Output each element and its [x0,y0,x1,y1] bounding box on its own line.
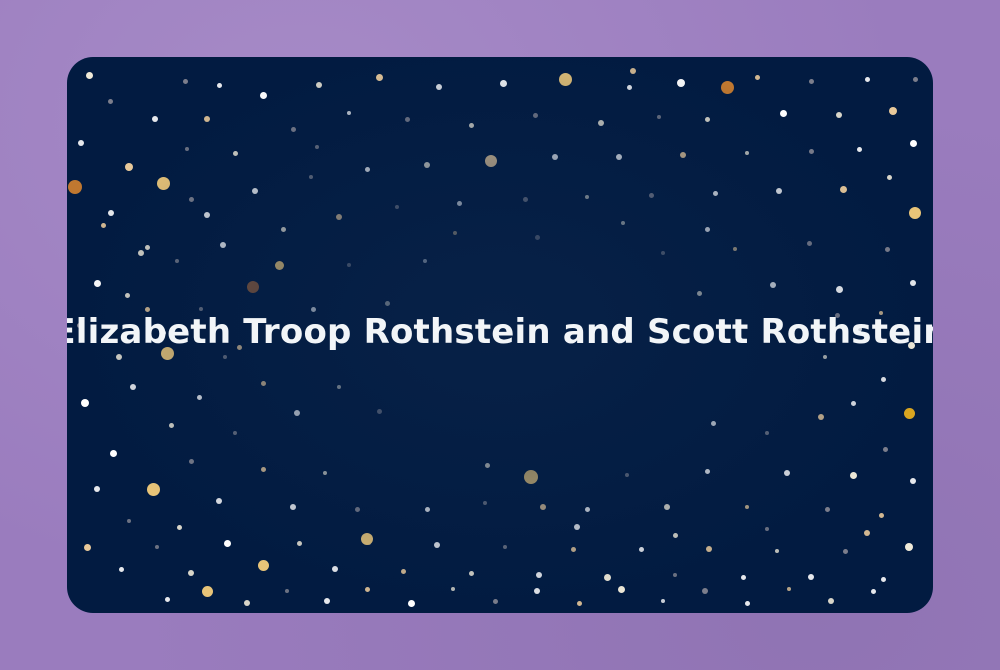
canvas: Elizabeth Troop Rothstein and Scott Roth… [0,0,1000,670]
page-title: Elizabeth Troop Rothstein and Scott Roth… [67,314,933,351]
card-title-container: Elizabeth Troop Rothstein and Scott Roth… [67,57,933,613]
invitation-card: Elizabeth Troop Rothstein and Scott Roth… [67,57,933,613]
